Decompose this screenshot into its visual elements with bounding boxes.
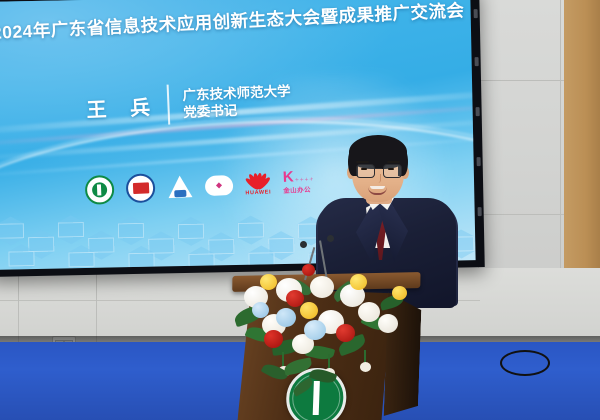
blue-seal-emblem-icon xyxy=(126,173,156,203)
red-rose xyxy=(264,330,283,348)
eyeglasses-right-lens xyxy=(383,164,402,178)
microphone-head-left xyxy=(300,241,307,248)
flower-arrangement xyxy=(232,256,418,374)
blue-rose xyxy=(276,308,296,327)
white-rose xyxy=(378,314,398,333)
yellow-flower xyxy=(260,274,277,290)
kingsoft-wordmark: 金山办公 xyxy=(283,184,311,195)
wood-column xyxy=(564,0,600,300)
speaker-identity-block: 王 兵 广东技术师范大学 党委书记 xyxy=(86,80,292,128)
eyeglasses-left-lens xyxy=(356,164,375,178)
vertical-divider xyxy=(166,85,170,125)
wall-seam xyxy=(560,0,561,300)
kingsoft-logo-icon: K＋＋＋＋ 金山办公 xyxy=(282,169,314,195)
triangle-emblem-icon xyxy=(167,174,194,199)
eyeglasses-bridge xyxy=(374,168,382,169)
speaker-name: 王 兵 xyxy=(86,90,160,122)
white-bud xyxy=(360,362,371,372)
white-rose xyxy=(358,302,380,322)
blue-rose xyxy=(304,320,326,340)
eye-left xyxy=(361,168,367,170)
white-rose xyxy=(310,276,334,298)
speaker-role: 党委书记 xyxy=(183,100,292,122)
floor-cable xyxy=(500,350,550,376)
nose xyxy=(375,174,381,183)
huawei-logo-icon: HUAWEI xyxy=(245,171,272,196)
trailing-greenery xyxy=(262,360,352,402)
conference-photo: 2024年广东省信息技术应用创新生态大会暨成果推广交流会 王 兵 广东技术师范大… xyxy=(0,0,600,420)
red-rose xyxy=(336,324,355,342)
eye-right xyxy=(388,168,394,170)
microphone-head-right xyxy=(327,235,334,242)
red-rose xyxy=(286,290,304,307)
slide-title: 2024年广东省信息技术应用创新生态大会暨成果推广交流会 xyxy=(0,0,465,45)
green-circle-emblem-icon xyxy=(85,175,115,205)
blue-rose xyxy=(252,302,269,318)
yellow-flower xyxy=(350,274,367,290)
red-rose xyxy=(302,264,315,276)
yellow-flower xyxy=(392,286,407,300)
yellow-flower xyxy=(300,302,318,319)
cloud-emblem-icon: ◆ xyxy=(205,174,234,195)
